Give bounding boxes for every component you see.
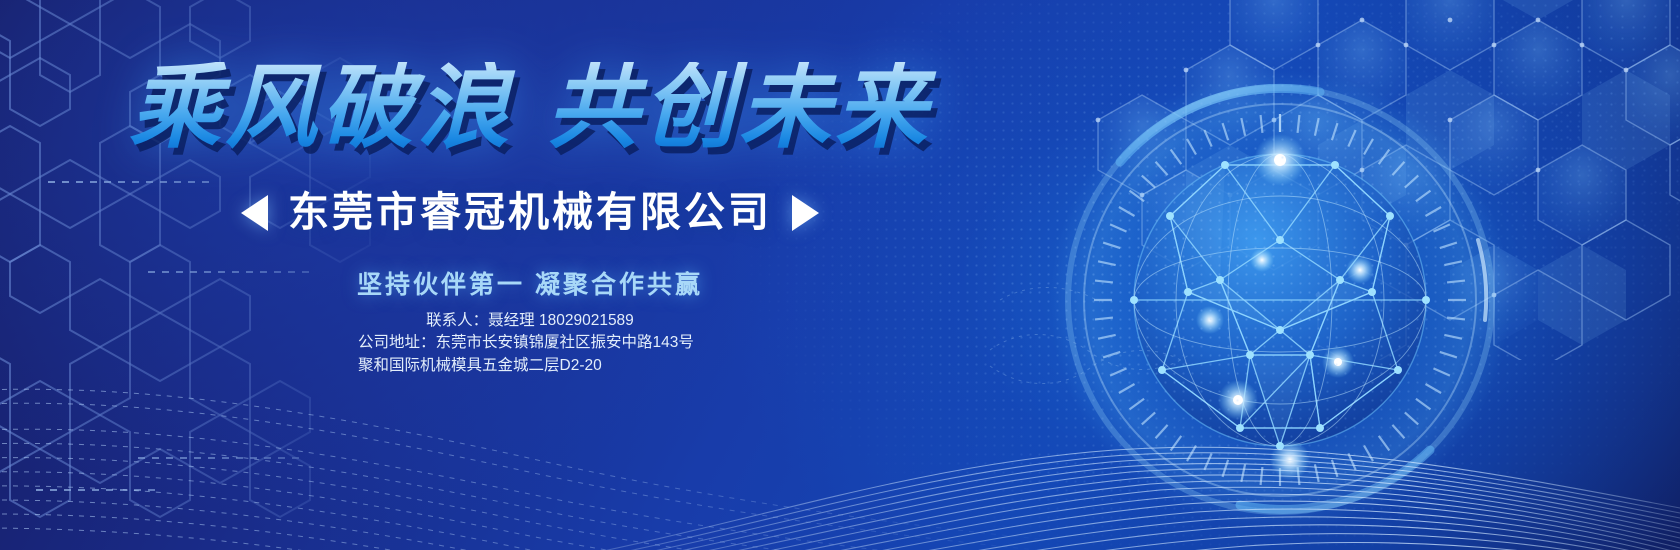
left-triangle-icon xyxy=(241,195,268,231)
company-name-bar: 东莞市睿冠机械有限公司 xyxy=(0,192,1060,233)
address-label: 公司地址： xyxy=(358,334,436,351)
company-name: 东莞市睿冠机械有限公司 xyxy=(288,192,772,233)
slogan: 坚持伙伴第一 凝聚合作共赢 xyxy=(0,265,1060,301)
headline-part-1: 乘风破浪 xyxy=(129,57,513,159)
promo-banner: 乘风破浪共创未来 东莞市睿冠机械有限公司 坚持伙伴第一 凝聚合作共赢 联系人：聂… xyxy=(0,0,1680,550)
contact-address: 公司地址：东莞市长安镇锦厦社区振安中路143号聚和国际机械模具五金城二层D2-2… xyxy=(358,332,702,377)
right-triangle-icon xyxy=(792,195,819,231)
contact-person: 联系人：聂经理 18029021589 xyxy=(0,310,1060,332)
contact-block: 联系人：聂经理 18029021589 公司地址：东莞市长安镇锦厦社区振安中路1… xyxy=(0,310,1060,377)
headline: 乘风破浪共创未来 xyxy=(0,62,1060,154)
banner-content: 乘风破浪共创未来 东莞市睿冠机械有限公司 坚持伙伴第一 凝聚合作共赢 联系人：聂… xyxy=(0,0,1060,550)
headline-part-2: 共创未来 xyxy=(547,57,931,159)
